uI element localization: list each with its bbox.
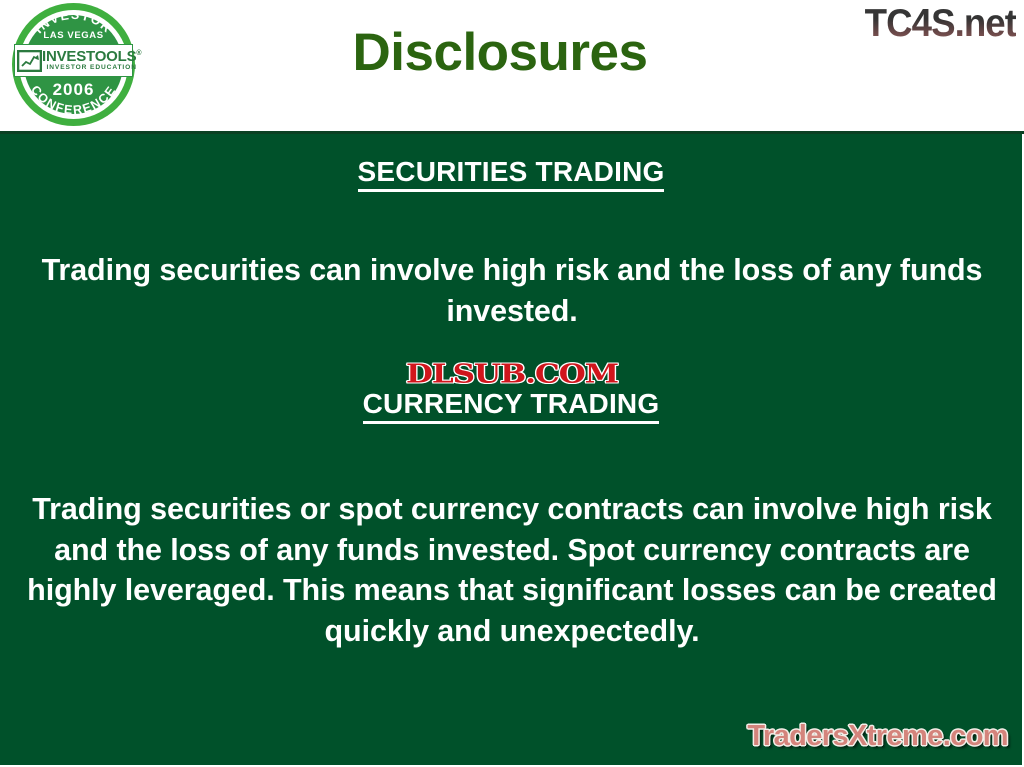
section-heading-securities: SECURITIES TRADING xyxy=(0,156,1022,188)
tc4s-brand-logo: TC4S.net xyxy=(865,2,1016,46)
dlsub-watermark: DLSUB.COM xyxy=(0,359,1024,390)
slide-body: SECURITIES TRADING Trading securities ca… xyxy=(0,134,1024,767)
section-heading-currency-label: CURRENCY TRADING xyxy=(363,388,660,424)
slide-canvas: INVESTOR CONFERENCE LAS VEGAS INVESTOOLS… xyxy=(0,0,1024,767)
tradersxtreme-brand-logo: TradersXtreme.com xyxy=(747,720,1008,753)
slide-header: INVESTOR CONFERENCE LAS VEGAS INVESTOOLS… xyxy=(0,0,1024,131)
page-title: Disclosures xyxy=(150,22,850,83)
chart-line-icon xyxy=(17,50,42,72)
seal-tagline-label: INVESTOR EDUCATION xyxy=(42,65,141,72)
seal-wordmark-group: INVESTOOLS® INVESTOR EDUCATION xyxy=(42,49,141,72)
seal-year-label: 2006 xyxy=(12,80,135,100)
section-heading-securities-label: SECURITIES TRADING xyxy=(358,156,665,192)
section-body-currency: Trading securities or spot currency cont… xyxy=(26,489,998,651)
seal-city-label: LAS VEGAS xyxy=(12,30,135,41)
seal-wordmark-label: INVESTOOLS® xyxy=(42,49,141,64)
section-heading-currency: CURRENCY TRADING xyxy=(0,388,1022,420)
section-body-securities: Trading securities can involve high risk… xyxy=(38,250,986,331)
seal-wordmark-plate: INVESTOOLS® INVESTOR EDUCATION xyxy=(14,44,133,77)
investools-conference-logo: INVESTOR CONFERENCE LAS VEGAS INVESTOOLS… xyxy=(12,3,135,126)
